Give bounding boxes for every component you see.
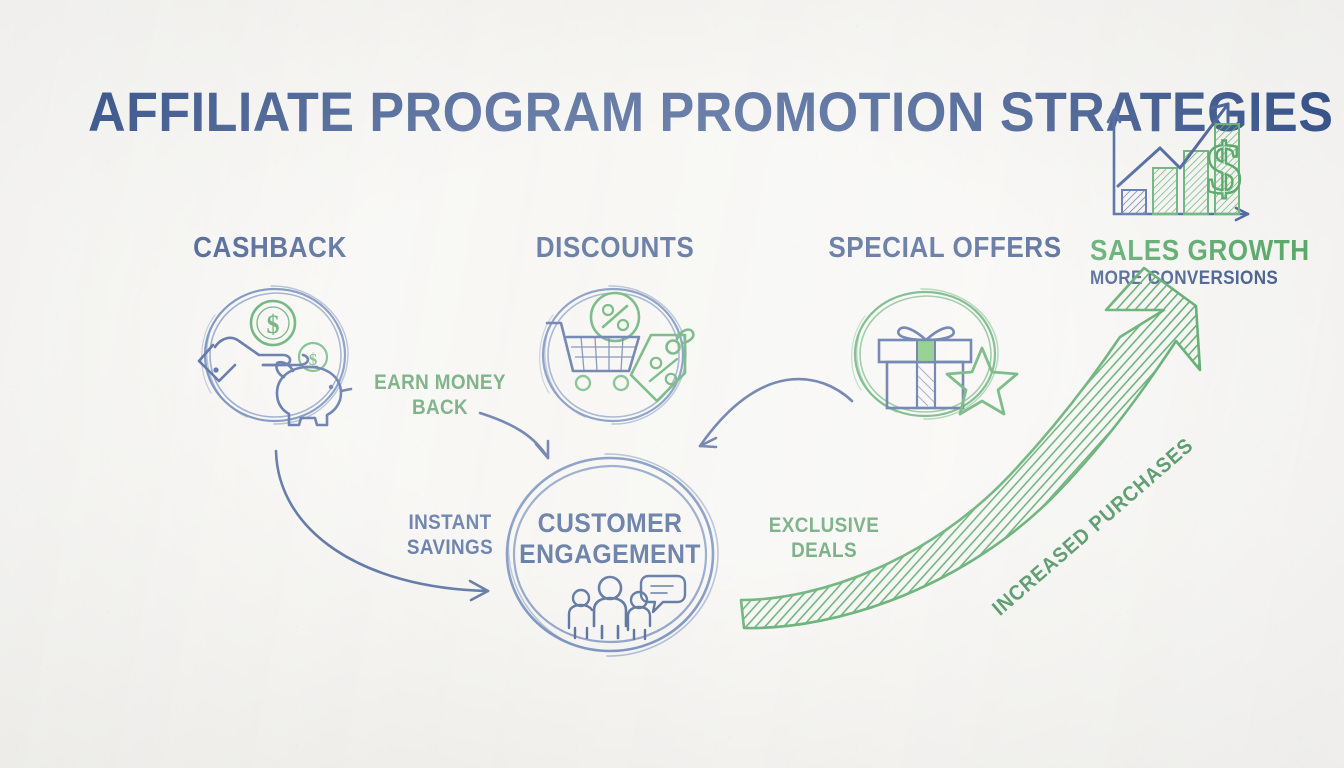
center-node-label: CUSTOMER ENGAGEMENT [509,508,711,570]
center-label-line1: CUSTOMER [509,508,711,539]
infographic-canvas: AFFILIATE PROGRAM PROMOTION STRATEGIES C… [0,0,1344,768]
people-speech-bubble-icon [569,576,685,639]
center-label-line2: ENGAGEMENT [509,539,711,570]
growth-arrow-shape [741,268,1200,628]
